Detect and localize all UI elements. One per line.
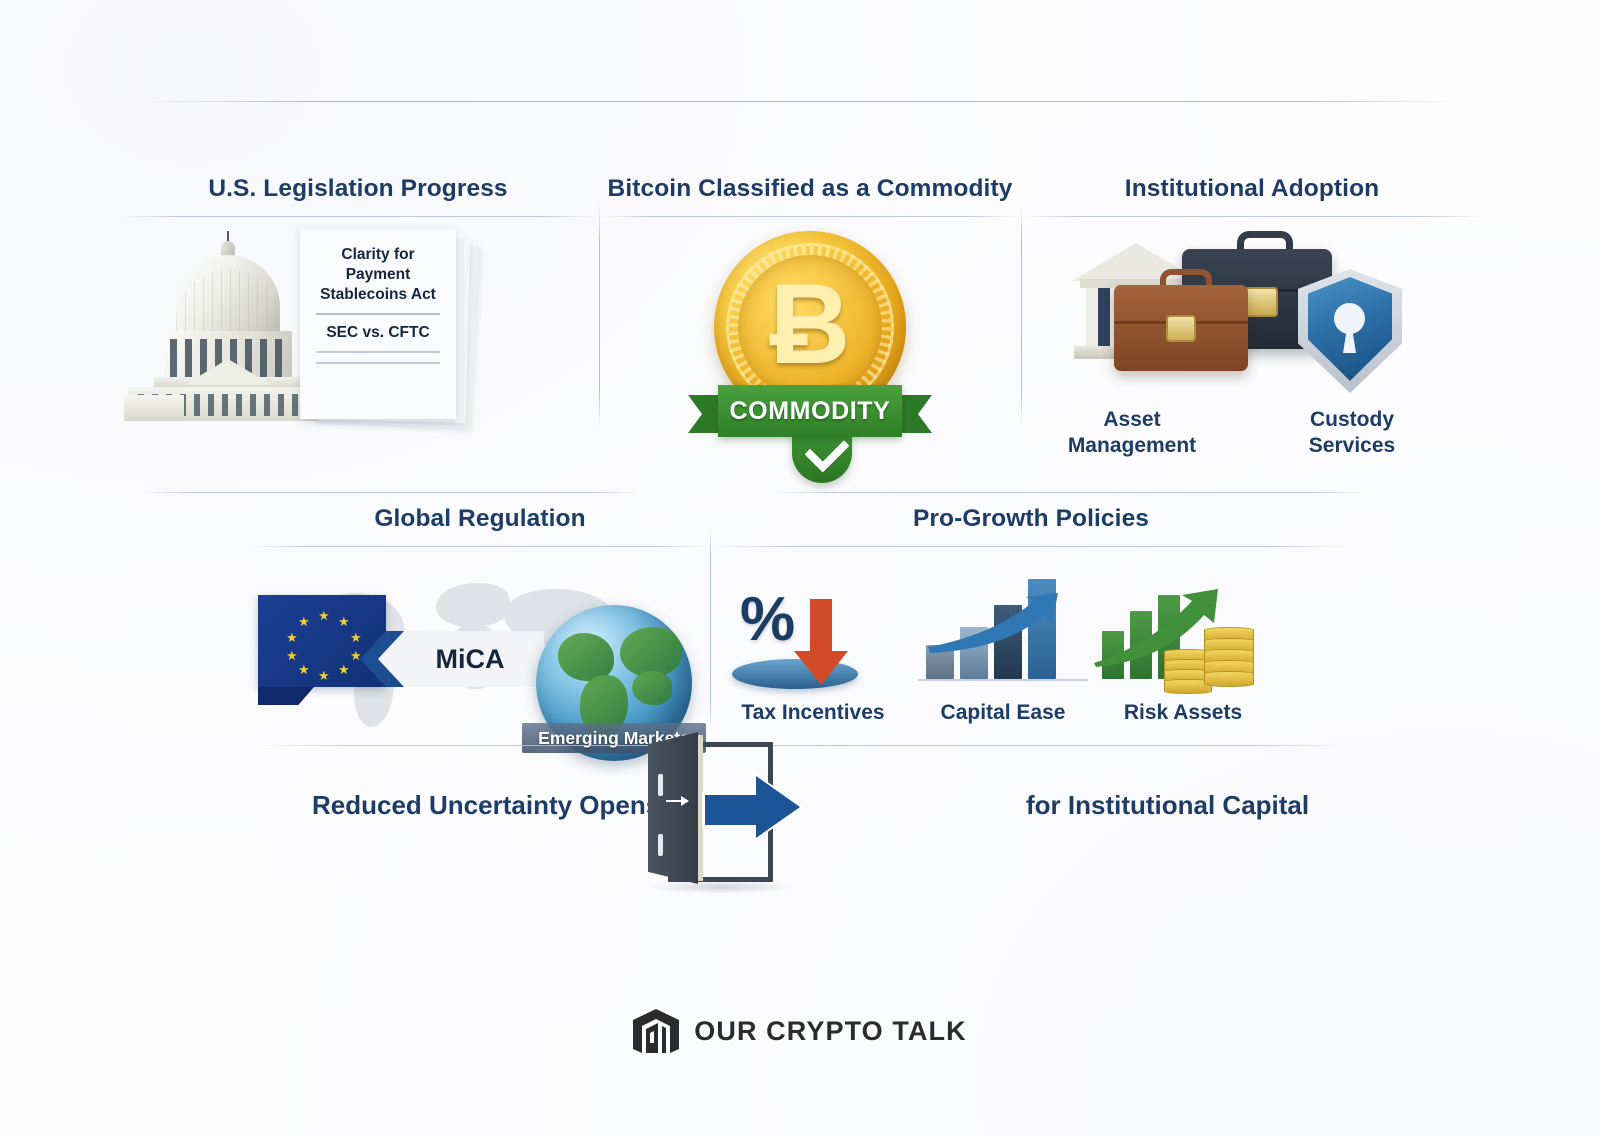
institutional-illustration [1022, 217, 1482, 407]
rising-bar-chart-icon [908, 577, 1098, 695]
conclusion-text-after: for Institutional Capital [1026, 790, 1309, 821]
section-title-progrowth: Pro-Growth Policies [712, 505, 1350, 533]
up-arrow-icon [926, 593, 1076, 653]
cube-logo-icon [633, 1009, 679, 1053]
legislation-illustration: Clarity for Payment Stablecoins Act SEC … [118, 217, 598, 449]
label-custody-services: Custody Services [1272, 407, 1432, 458]
brand-name: OUR CRYPTO TALK [694, 1016, 967, 1047]
ribbon-label: COMMODITY [718, 385, 902, 437]
percent-down-arrow-icon: % [718, 577, 908, 695]
commodity-illustration: Ƀ COMMODITY [600, 217, 1020, 477]
conclusion-banner: Reduced Uncertainty Opens the for Instit… [250, 760, 1350, 890]
mid-divider-right [770, 492, 1370, 493]
label-line-2: Management [1068, 434, 1196, 457]
document-subtitle: SEC vs. CFTC [310, 324, 446, 342]
section-title-legislation: U.S. Legislation Progress [118, 175, 598, 203]
infographic-canvas: U.S. Legislation Progress [0, 0, 1600, 1135]
mid-divider-left [140, 492, 640, 493]
label-line-2: Services [1309, 434, 1395, 457]
commodity-ribbon: COMMODITY [692, 381, 928, 443]
progrowth-item-tax-incentives: % Tax Incentives [718, 577, 908, 725]
bottom-row: Global Regulation ★ ★ ★ ★ ★ [250, 505, 1350, 735]
section-pro-growth-policies: Pro-Growth Policies % Tax Incentives [712, 505, 1350, 735]
section-global-regulation: Global Regulation ★ ★ ★ ★ ★ [250, 505, 710, 735]
bottom-divider [258, 745, 1348, 746]
label-line-1: Custody [1310, 408, 1394, 431]
conclusion-text-before: Reduced Uncertainty Opens the [312, 790, 706, 821]
document-act-title: Clarity for Payment Stablecoins Act [310, 245, 446, 304]
section-title-institutional: Institutional Adoption [1022, 175, 1482, 203]
percent-symbol: % [740, 589, 795, 651]
green-growth-coins-icon [1088, 577, 1278, 695]
legislation-document-stack: Clarity for Payment Stablecoins Act SEC … [296, 229, 482, 427]
section-bitcoin-commodity: Bitcoin Classified as a Commodity Ƀ [600, 175, 1020, 485]
progrowth-item-capital-ease: Capital Ease [908, 577, 1098, 725]
bitcoin-commodity-badge: Ƀ COMMODITY [692, 231, 928, 481]
eu-stars: ★ ★ ★ ★ ★ ★ ★ ★ ★ ★ [258, 595, 386, 687]
top-row: U.S. Legislation Progress [118, 175, 1482, 485]
vertical-divider-3 [710, 527, 711, 732]
progrowth-label: Tax Incentives [718, 701, 908, 725]
progrowth-label: Risk Assets [1088, 701, 1278, 725]
bitcoin-symbol: Ƀ [714, 269, 906, 381]
footer: OUR CRYPTO TALK [0, 1000, 1600, 1062]
document-front: Clarity for Payment Stablecoins Act SEC … [300, 229, 456, 419]
mica-label: MiCA [400, 631, 540, 687]
global-illustration: ★ ★ ★ ★ ★ ★ ★ ★ ★ ★ MiCA [250, 547, 710, 762]
section-institutional-adoption: Institutional Adoption [1022, 175, 1482, 485]
label-asset-management: Asset Management [1052, 407, 1212, 458]
section-us-legislation: U.S. Legislation Progress [118, 175, 598, 485]
section-title-commodity: Bitcoin Classified as a Commodity [600, 175, 1020, 203]
progrowth-item-risk-assets: Risk Assets [1088, 577, 1278, 725]
section-title-global: Global Regulation [250, 505, 710, 533]
progrowth-label: Capital Ease [908, 701, 1098, 725]
progrowth-illustration: % Tax Incentives [712, 547, 1350, 727]
label-line-1: Asset [1103, 408, 1160, 431]
top-divider [140, 101, 1460, 102]
